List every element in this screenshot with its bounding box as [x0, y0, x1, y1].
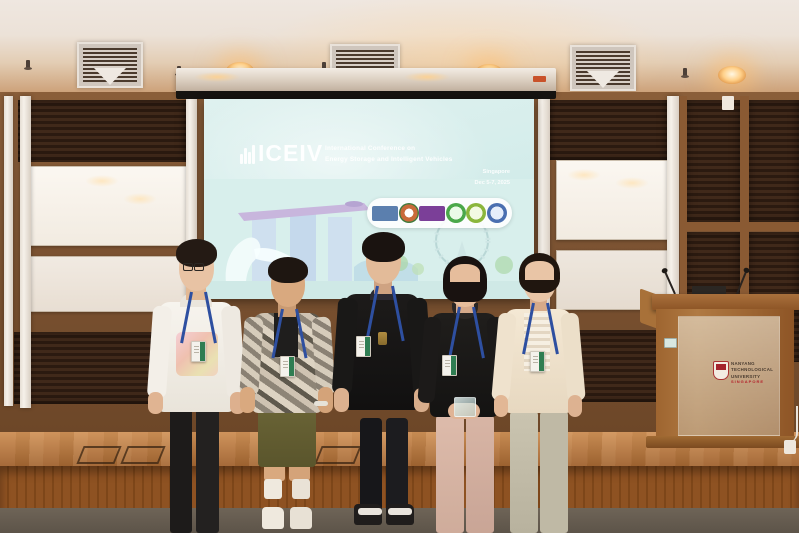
wall-pilaster — [4, 96, 13, 406]
university-line-2: TECHNOLOGICAL — [731, 367, 773, 373]
whiteboard — [556, 160, 674, 240]
wall-pilaster — [20, 96, 31, 408]
person-2-sock — [292, 479, 310, 499]
photo-scene: ICEIV International Conference on Energy… — [0, 0, 799, 533]
podium-switch-icon[interactable] — [664, 338, 677, 348]
ceiling-downlight-icon — [718, 66, 746, 84]
venue-dates: Dec 5-7, 2025 — [475, 178, 510, 189]
valance-marker — [533, 76, 546, 82]
person-3-badge — [356, 336, 371, 357]
person-3-leg — [360, 418, 382, 510]
badge-band — [451, 356, 456, 375]
conference-subtitle: International Conference on Energy Stora… — [325, 143, 452, 165]
podium-university-name: NANYANG TECHNOLOGICAL UNIVERSITY — [731, 361, 773, 380]
sprinkler-icon — [683, 68, 687, 77]
person-3-shoe-stripe — [358, 508, 382, 515]
podium-city-name: SINGAPORE — [731, 379, 764, 384]
person-2-wristband — [314, 401, 328, 406]
partner-logo-6-icon — [487, 203, 507, 223]
whiteboard-sheen — [123, 193, 157, 205]
ceiling-diffuser-icon — [77, 42, 143, 88]
person-1-leg — [196, 406, 219, 533]
person-4-face-top — [450, 264, 480, 282]
sprinkler-icon — [26, 60, 30, 69]
whiteboard-sheen — [85, 175, 119, 187]
partner-logo-1-icon — [372, 206, 398, 221]
person-3-hair — [362, 232, 405, 262]
badge-band — [539, 352, 544, 371]
badge-band — [365, 337, 370, 356]
wall-frame — [680, 222, 799, 231]
person-2-hand — [318, 387, 333, 413]
person-2-shorts — [258, 405, 316, 467]
conference-subtitle-line-2: Energy Storage and Intelligent Vehicles — [325, 154, 452, 165]
whiteboard-sheen — [615, 177, 649, 189]
wall-slat-panel — [548, 100, 668, 160]
iceiv-bars-icon — [240, 145, 255, 164]
podium-front-panel: NANYANG TECHNOLOGICAL UNIVERSITY SINGAPO… — [678, 316, 780, 436]
ntu-crest-icon — [713, 361, 729, 380]
valance-glint — [194, 72, 240, 82]
podium-top — [652, 294, 799, 310]
person-2-hair — [268, 257, 308, 283]
person-2-shoe — [290, 507, 312, 529]
person-2-hand — [240, 387, 255, 413]
person-1-leg — [170, 406, 192, 533]
wall-speaker-icon — [722, 96, 734, 110]
person-3-chest-emblem — [378, 332, 387, 345]
podium-cable — [780, 406, 798, 442]
partner-logo-2-icon — [399, 203, 419, 223]
podium-base — [646, 436, 799, 448]
wall-slat-panel — [686, 100, 740, 222]
projector-screen-rail — [176, 91, 556, 99]
person-3-leg — [386, 418, 408, 510]
person-5-hand — [494, 395, 508, 417]
person-4-badge — [442, 355, 457, 376]
glass-award-icon — [454, 397, 476, 417]
conference-subtitle-line-1: International Conference on — [325, 143, 452, 154]
lectern-podium[interactable]: NANYANG TECHNOLOGICAL UNIVERSITY SINGAPO… — [652, 280, 799, 456]
partner-logo-strip — [367, 198, 512, 228]
ceiling-diffuser-icon — [570, 45, 636, 91]
person-5-badge — [530, 351, 545, 372]
projector-screen-housing — [176, 68, 556, 92]
person-2-sock — [264, 479, 282, 499]
partner-logo-4-icon — [446, 203, 466, 223]
person-5-leg — [510, 411, 538, 533]
person-3-shoe-stripe — [388, 508, 412, 515]
person-3-hand — [334, 388, 349, 412]
person-2 — [240, 255, 340, 533]
podium-power-plug — [784, 440, 796, 454]
diffuser-cone — [94, 68, 126, 85]
person-5-leg — [540, 411, 568, 533]
wall-slat-panel — [18, 100, 186, 162]
diffuser-cone — [587, 71, 619, 88]
conference-logo-text: ICEIV — [258, 142, 323, 165]
person-1-hand — [148, 392, 163, 414]
person-4-leg — [436, 415, 464, 533]
venue-city: Singapore — [475, 167, 510, 178]
whiteboard — [22, 166, 188, 246]
person-5-hand — [568, 395, 582, 417]
person-5 — [494, 253, 586, 533]
partner-logo-3-icon — [419, 206, 445, 221]
partner-logo-5-icon — [466, 203, 486, 223]
person-1 — [146, 236, 250, 533]
person-4-leg — [466, 415, 494, 533]
valance-glint — [404, 72, 450, 82]
person-2-shoe — [262, 507, 284, 529]
whiteboard-sheen — [567, 169, 601, 181]
wall-slat-panel — [748, 100, 799, 222]
badge-band — [289, 357, 294, 376]
person-2-badge — [280, 356, 295, 377]
person-1-badge — [191, 341, 206, 362]
person-5-face-top — [525, 261, 554, 280]
conference-venue-block: Singapore Dec 5-7, 2025 — [475, 167, 510, 188]
badge-band — [200, 342, 205, 361]
floor-inlay — [76, 446, 121, 464]
